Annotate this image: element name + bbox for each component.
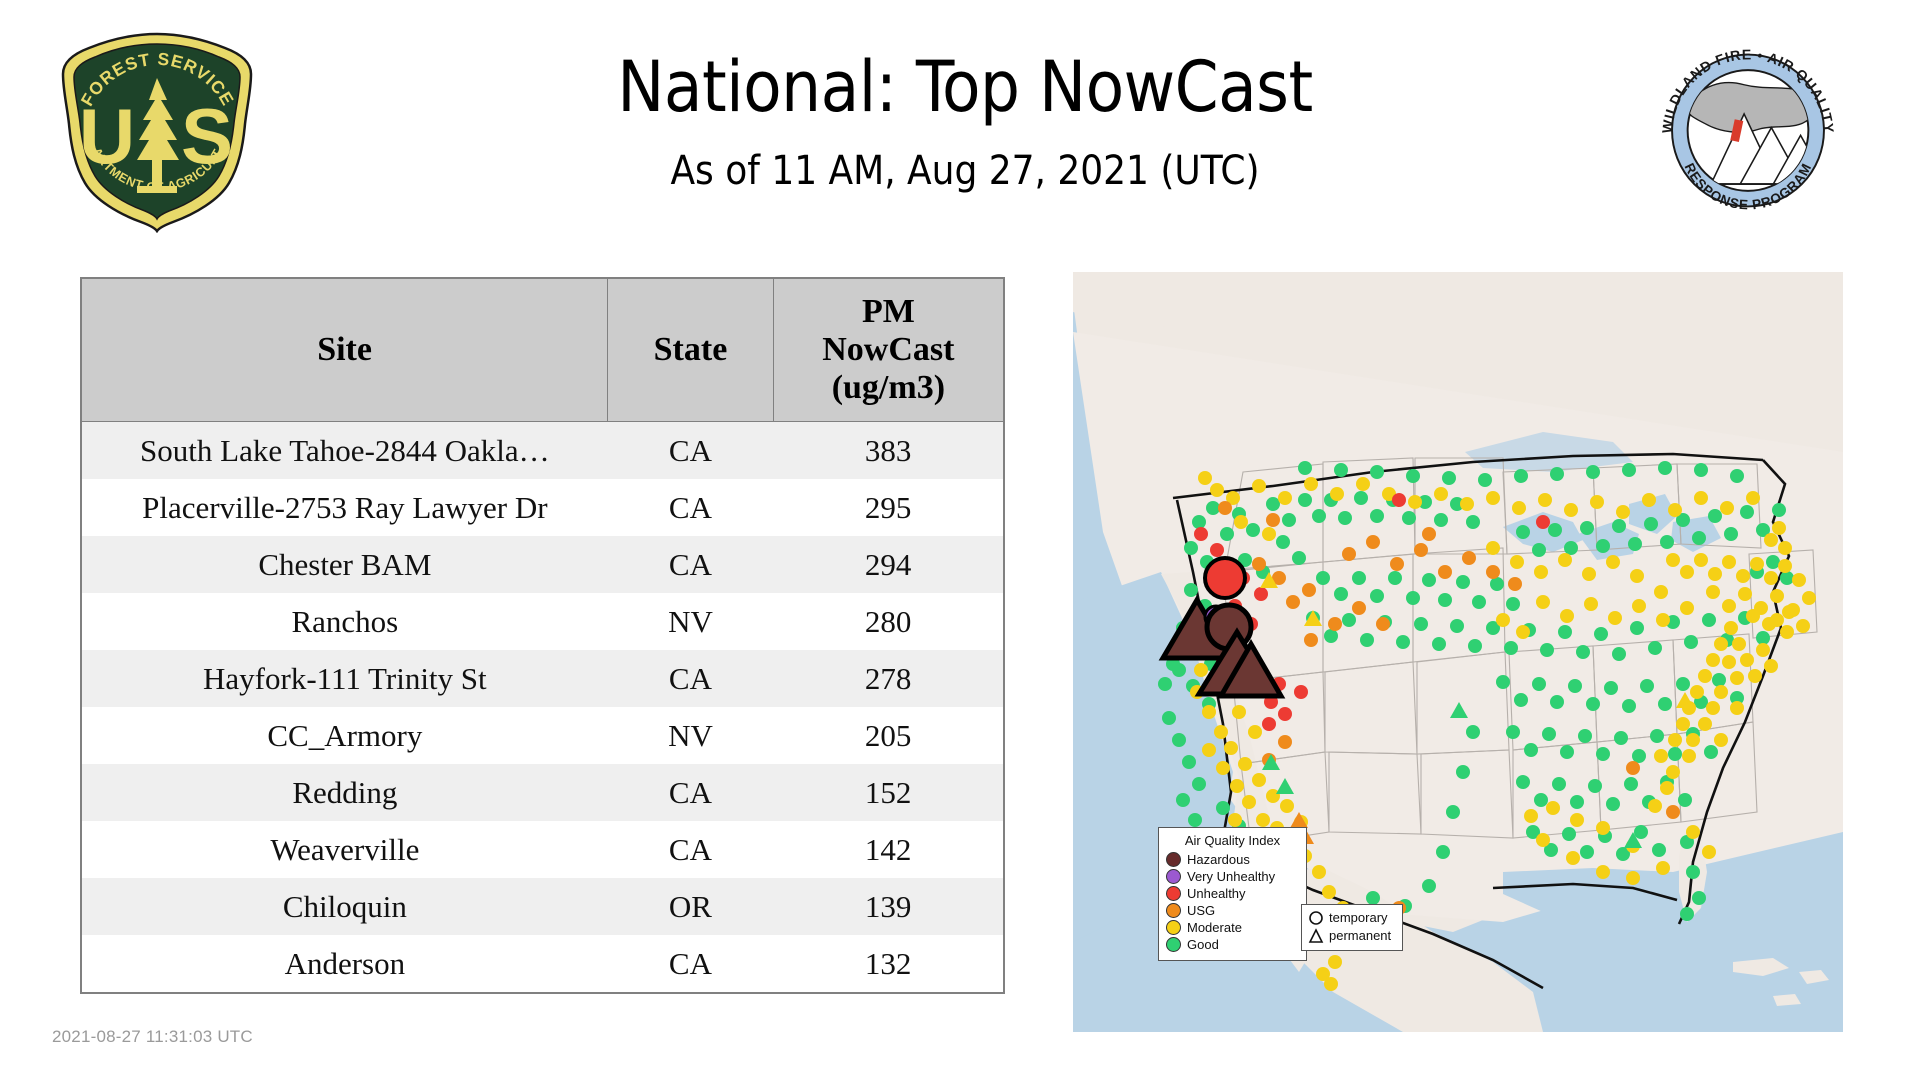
cell-site: CC_Armory xyxy=(81,707,608,764)
pm-header-line-2: NowCast xyxy=(778,331,999,369)
table-body: South Lake Tahoe-2844 Oakla… CA 383 Plac… xyxy=(81,422,1004,994)
legend-item-good: Good xyxy=(1166,936,1299,953)
table-row[interactable]: Chester BAM CA 294 xyxy=(81,536,1004,593)
aqi-legend: Air Quality Index Hazardous Very Unhealt… xyxy=(1158,827,1307,961)
cell-site: Hayfork-111 Trinity St xyxy=(81,650,608,707)
legend-item-temporary: temporary xyxy=(1308,909,1396,927)
title-block: National: Top NowCast As of 11 AM, Aug 2… xyxy=(300,48,1630,194)
circle-marker-icon xyxy=(1308,910,1324,926)
table-row[interactable]: CC_Armory NV 205 xyxy=(81,707,1004,764)
table-row[interactable]: Weaverville CA 142 xyxy=(81,821,1004,878)
cell-state: CA xyxy=(608,821,774,878)
table-row[interactable]: Placerville-2753 Ray Lawyer Dr CA 295 xyxy=(81,479,1004,536)
cell-site: Weaverville xyxy=(81,821,608,878)
table-header-row: Site State PM NowCast (ug/m3) xyxy=(81,278,1004,422)
pm-header-line-3: (ug/m3) xyxy=(778,369,999,407)
cell-pm: 152 xyxy=(773,764,1004,821)
legend-item-usg: USG xyxy=(1166,902,1299,919)
moderate-swatch-icon xyxy=(1166,920,1181,935)
cell-pm: 205 xyxy=(773,707,1004,764)
cell-state: NV xyxy=(608,707,774,764)
cell-site: Chiloquin xyxy=(81,878,608,935)
column-header-pm-nowcast[interactable]: PM NowCast (ug/m3) xyxy=(773,278,1004,422)
triangle-marker-icon xyxy=(1308,928,1324,944)
wildland-fire-air-quality-logo: WILDLAND FIRE • AIR QUALITY RESPONSE PRO… xyxy=(1648,38,1848,223)
forest-service-logo: FOREST SERVICE DEPARTMENT OF AGRICULTURE… xyxy=(55,28,260,233)
cell-pm: 294 xyxy=(773,536,1004,593)
page-subtitle: As of 11 AM, Aug 27, 2021 (UTC) xyxy=(300,148,1630,194)
legend-label: Good xyxy=(1187,938,1219,951)
legend-label: USG xyxy=(1187,904,1215,917)
very-unhealthy-swatch-icon xyxy=(1166,869,1181,884)
hazardous-swatch-icon xyxy=(1166,852,1181,867)
table-row[interactable]: Anderson CA 132 xyxy=(81,935,1004,993)
cell-site: Chester BAM xyxy=(81,536,608,593)
legend-label: Hazardous xyxy=(1187,853,1250,866)
cell-state: NV xyxy=(608,593,774,650)
svg-text:S: S xyxy=(181,92,233,180)
cell-pm: 295 xyxy=(773,479,1004,536)
legend-item-unhealthy: Unhealthy xyxy=(1166,885,1299,902)
cell-state: OR xyxy=(608,878,774,935)
legend-item-hazardous: Hazardous xyxy=(1166,851,1299,868)
top-nowcast-table: Site State PM NowCast (ug/m3) South Lake… xyxy=(80,277,1005,994)
cell-state: CA xyxy=(608,650,774,707)
cell-pm: 278 xyxy=(773,650,1004,707)
table-row[interactable]: Ranchos NV 280 xyxy=(81,593,1004,650)
monitor-type-legend: temporary permanent xyxy=(1301,904,1403,951)
cell-site: Redding xyxy=(81,764,608,821)
page-title: National: Top NowCast xyxy=(300,48,1630,126)
cell-state: CA xyxy=(608,422,774,480)
cell-state: CA xyxy=(608,536,774,593)
legend-item-very-unhealthy: Very Unhealthy xyxy=(1166,868,1299,885)
legend-item-moderate: Moderate xyxy=(1166,919,1299,936)
cell-state: CA xyxy=(608,479,774,536)
good-swatch-icon xyxy=(1166,937,1181,952)
cell-site: Ranchos xyxy=(81,593,608,650)
air-quality-map[interactable]: Air Quality Index Hazardous Very Unhealt… xyxy=(1073,272,1843,1032)
aqi-legend-title: Air Quality Index xyxy=(1166,833,1299,848)
cell-pm: 383 xyxy=(773,422,1004,480)
cell-pm: 142 xyxy=(773,821,1004,878)
pm-header-line-1: PM xyxy=(778,293,999,331)
table-row[interactable]: Hayfork-111 Trinity St CA 278 xyxy=(81,650,1004,707)
column-header-state[interactable]: State xyxy=(608,278,774,422)
legend-label: temporary xyxy=(1329,911,1388,925)
cell-state: CA xyxy=(608,935,774,993)
usg-swatch-icon xyxy=(1166,903,1181,918)
top-nowcast-table-container: Site State PM NowCast (ug/m3) South Lake… xyxy=(80,277,1005,994)
table-row[interactable]: Chiloquin OR 139 xyxy=(81,878,1004,935)
cell-site: South Lake Tahoe-2844 Oakla… xyxy=(81,422,608,480)
cell-pm: 139 xyxy=(773,878,1004,935)
table-row[interactable]: South Lake Tahoe-2844 Oakla… CA 383 xyxy=(81,422,1004,480)
unhealthy-swatch-icon xyxy=(1166,886,1181,901)
cell-site: Anderson xyxy=(81,935,608,993)
cell-pm: 132 xyxy=(773,935,1004,993)
legend-label: permanent xyxy=(1329,929,1391,943)
svg-text:U: U xyxy=(79,92,135,180)
cell-site: Placerville-2753 Ray Lawyer Dr xyxy=(81,479,608,536)
legend-label: Moderate xyxy=(1187,921,1242,934)
generated-timestamp: 2021-08-27 11:31:03 UTC xyxy=(52,1027,253,1047)
cell-pm: 280 xyxy=(773,593,1004,650)
legend-label: Unhealthy xyxy=(1187,887,1246,900)
column-header-site[interactable]: Site xyxy=(81,278,608,422)
legend-item-permanent: permanent xyxy=(1308,927,1396,945)
legend-label: Very Unhealthy xyxy=(1187,870,1275,883)
cell-state: CA xyxy=(608,764,774,821)
table-row[interactable]: Redding CA 152 xyxy=(81,764,1004,821)
